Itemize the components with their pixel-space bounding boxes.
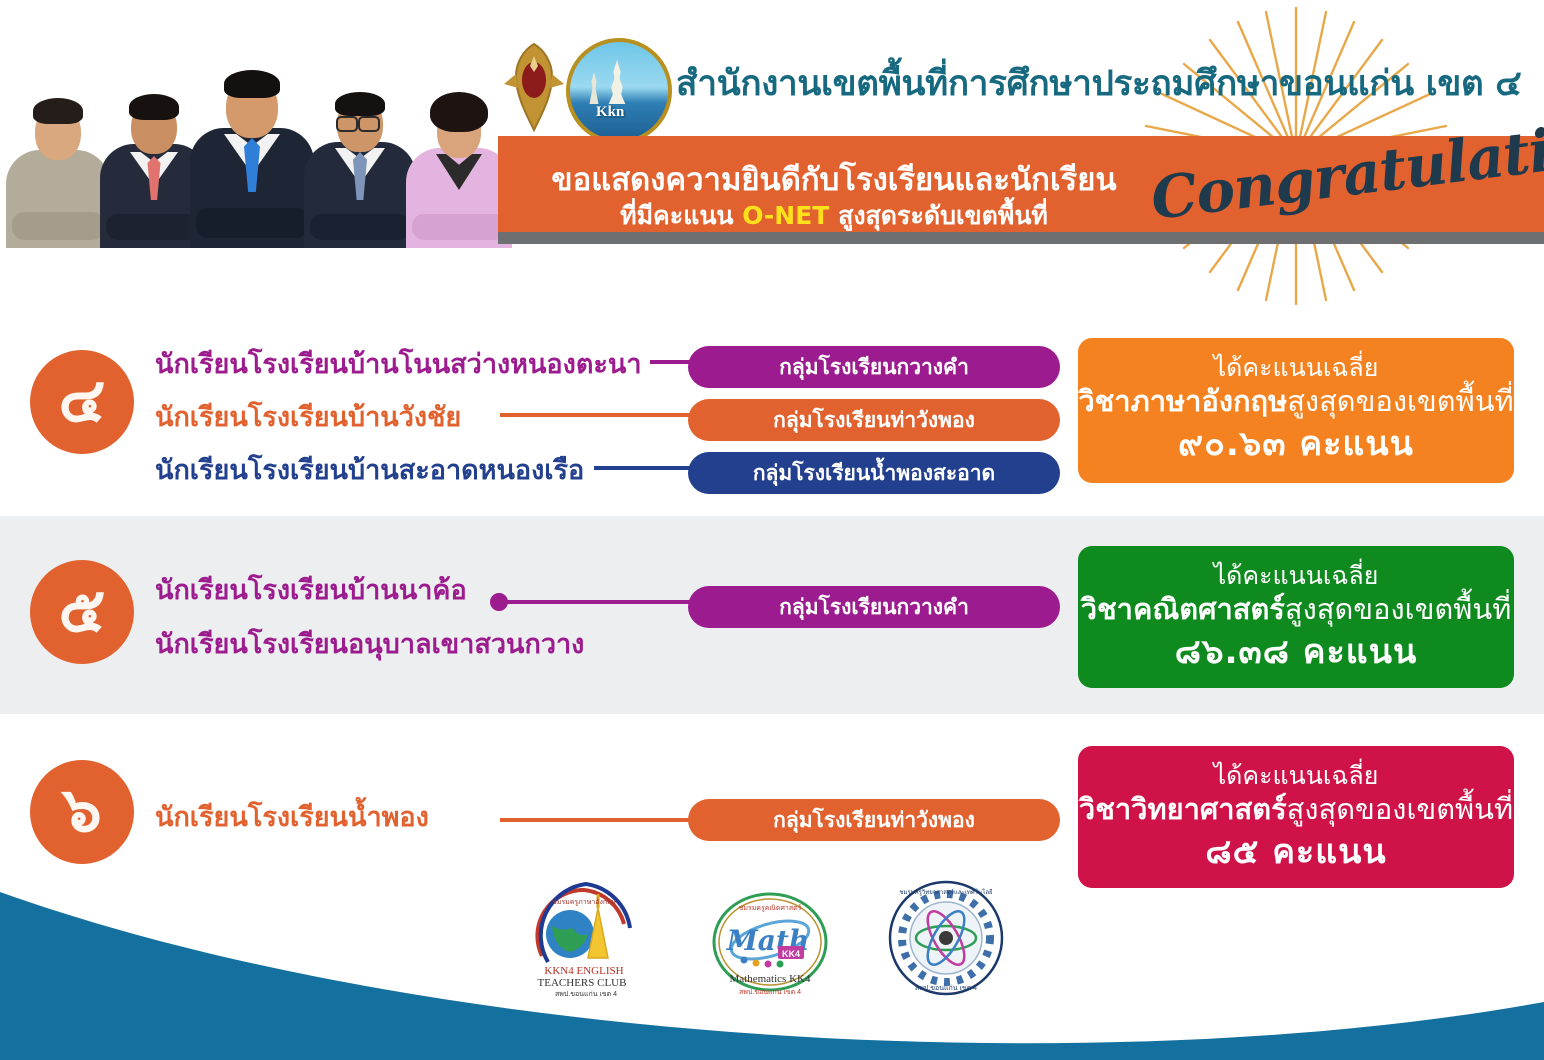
glasses-icon [336,116,358,132]
score-card-subject: วิชาคณิตศาสตร์สูงสุดของเขตพื้นที่ [1078,591,1514,629]
subject-name: วิชาวิทยาศาสตร์ [1079,792,1287,826]
subject-name: วิชาคณิตศาสตร์ [1081,592,1285,626]
banner-subline-pre: ที่มีคะแนน [620,201,742,230]
rank-row-4: ๔ นักเรียนโรงเรียนบ้านโนนสว่างหนองตะนา ก… [0,330,1544,490]
pagoda-shape [604,60,630,104]
partner-logos: KKN4 ENGLISH TEACHERS CLUB ชมรมครูภาษาอั… [514,878,1030,998]
rank-number-badge: ๖ [30,760,134,864]
connector-line [500,413,710,417]
score-card-value: ๙๐.๖๓ คะแนน [1078,421,1514,469]
svg-text:ชมรมครูวิทยาศาสตร์และเทคโนโลยี: ชมรมครูวิทยาศาสตร์และเทคโนโลยี [899,888,992,896]
mathematics-kk4-logo: ชมรมครูคณิตศาสตร์ Math KK4 Mathematics K… [710,884,830,1004]
score-card-subject: วิชาภาษาอังกฤษสูงสุดของเขตพื้นที่ [1078,383,1514,421]
school-group-pill: กลุ่มโรงเรียนกวางคำ [688,346,1060,388]
connector-line [505,600,710,604]
svg-text:TEACHERS CLUB: TEACHERS CLUB [538,977,627,989]
score-card: ได้คะแนนเฉลี่ย วิชาคณิตศาสตร์สูงสุดของเข… [1078,546,1514,688]
connector-line [500,818,710,822]
portrait-hair [335,92,385,116]
svg-text:KKN4 ENGLISH: KKN4 ENGLISH [544,965,623,977]
score-card-subject: วิชาวิทยาศาสตร์สูงสุดของเขตพื้นที่ [1078,791,1514,829]
score-card: ได้คะแนนเฉลี่ย วิชาภาษาอังกฤษสูงสุดของเข… [1078,338,1514,483]
portrait-person-1 [6,98,110,248]
science-technology-logo: ชมรมครูวิทยาศาสตร์และเทคโนโลยี สพป.ขอนแก… [886,878,1006,998]
svg-text:ชมรมครูภาษาอังกฤษ: ชมรมครูภาษาอังกฤษ [552,898,616,906]
subject-name: วิชาภาษาอังกฤษ [1078,384,1287,418]
score-card: ได้คะแนนเฉลี่ย วิชาวิทยาศาสตร์สูงสุดของเ… [1078,746,1514,888]
school-group-pill: กลุ่มโรงเรียนท่าวังพอง [688,799,1060,841]
rank-number-badge: ๔ [30,350,134,454]
page-title: สำนักงานเขตพื้นที่การศึกษาประถมศึกษาขอนแ… [676,56,1536,111]
glasses-icon [358,116,380,132]
portrait-arms [412,214,506,240]
portrait-person-3 [190,70,314,248]
page-header: Kkn สำนักงานเขตพื้นที่การศึกษาประถมศึกษา… [0,0,1544,248]
score-card-label: ได้คะแนนเฉลี่ย [1078,760,1514,791]
school-group-pill: กลุ่มโรงเรียนท่าวังพอง [688,399,1060,441]
school-group-pill: กลุ่มโรงเรียนกวางคำ [688,586,1060,628]
portrait-hair [224,70,280,98]
svg-text:สพป.ขอนแก่น เขต 4: สพป.ขอนแก่น เขต 4 [739,989,801,996]
portrait-hair [129,94,179,120]
svg-text:Mathematics KK4: Mathematics KK4 [730,973,811,985]
english-teachers-club-logo: KKN4 ENGLISH TEACHERS CLUB ชมรมครูภาษาอั… [524,878,644,998]
portrait-arms [310,214,410,240]
subject-suffix: สูงสุดของเขตพื้นที่ [1287,792,1513,826]
svg-text:สพป.ขอนแก่น เขต 4: สพป.ขอนแก่น เขต 4 [915,985,977,992]
rank-number-badge: ๕ [30,560,134,664]
school-name: นักเรียนโรงเรียนบ้านวังชัย [155,395,461,438]
subject-suffix: สูงสุดของเขตพื้นที่ [1285,592,1511,626]
onet-label: O-NET [742,201,829,230]
subject-suffix: สูงสุดของเขตพื้นที่ [1287,384,1513,418]
score-card-value: ๘๕ คะแนน [1078,829,1514,877]
seal-label: Kkn [596,104,624,121]
portrait-arms [12,212,104,240]
pagoda-shape-small [586,72,602,104]
banner-subline: ที่มีคะแนน O-NET สูงสุดระดับเขตพื้นที่ [524,196,1144,236]
svg-text:KK4: KK4 [782,949,800,959]
school-name: นักเรียนโรงเรียนบ้านโนนสว่างหนองตะนา [155,342,641,385]
executive-portraits [0,62,512,248]
school-name: นักเรียนโรงเรียนอนุบาลเขาสวนกวาง [155,622,584,665]
svg-text:ชมรมครูคณิตศาสตร์: ชมรมครูคณิตศาสตร์ [739,904,802,912]
score-card-label: ได้คะแนนเฉลี่ย [1078,560,1514,591]
portrait-hair [33,98,83,124]
portrait-arms [196,208,308,238]
banner-subline-post: สูงสุดระดับเขตพื้นที่ [829,201,1048,230]
portrait-arms [106,214,202,240]
portrait-person-4 [304,90,416,248]
score-card-label: ได้คะแนนเฉลี่ย [1078,352,1514,383]
rank-row-5: ๕ นักเรียนโรงเรียนบ้านนาค้อ กลุ่มโรงเรีย… [0,540,1544,700]
portrait-person-5 [406,96,512,248]
svg-text:สพป.ขอนแก่น เขต 4: สพป.ขอนแก่น เขต 4 [555,991,617,998]
school-name: นักเรียนโรงเรียนบ้านนาค้อ [155,568,467,611]
royal-emblem-icon [498,40,570,136]
khonkaen-seal-icon: Kkn [566,38,672,144]
school-name: นักเรียนโรงเรียนบ้านสะอาดหนองเรือ [155,448,584,491]
school-name: นักเรียนโรงเรียนน้ำพอง [155,795,429,838]
school-group-pill: กลุ่มโรงเรียนน้ำพองสะอาด [688,452,1060,494]
score-card-value: ๘๖.๓๘ คะแนน [1078,629,1514,677]
portrait-hair [430,92,488,132]
infographic-page: Kkn สำนักงานเขตพื้นที่การศึกษาประถมศึกษา… [0,0,1544,1060]
